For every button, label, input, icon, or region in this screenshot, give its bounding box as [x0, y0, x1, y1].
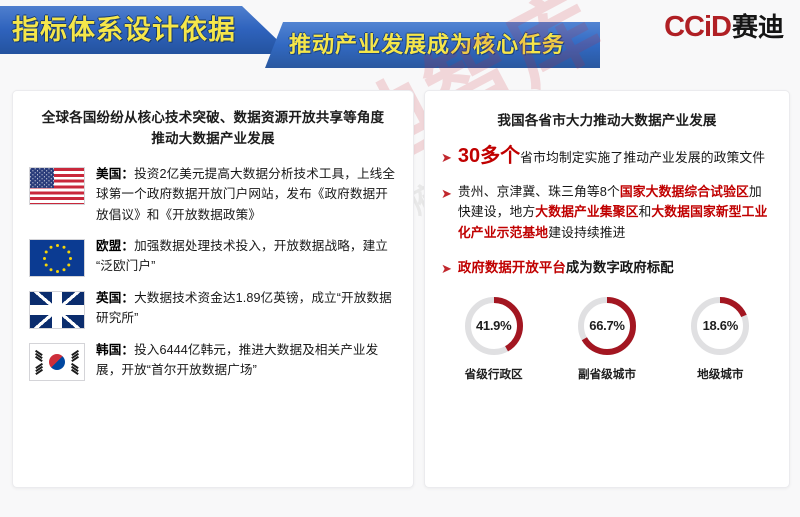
country-description: 英国：大数据技术资金达1.89亿英镑，成立“开放数据研究所” [96, 288, 399, 329]
donut-chart-1: 66.7% 副省级城市 [561, 293, 653, 382]
donut-ring-2: 18.6% [687, 293, 753, 359]
country-name: 欧盟： [96, 239, 134, 253]
bullet-seg-red-2: 大数据产业集聚区 [535, 204, 638, 219]
bullet-rest-text: 省市均制定实施了推动产业发展的政策文件 [520, 150, 765, 165]
donut-label-1: 副省级城市 [578, 366, 636, 382]
bullet-seg-black-3: 和 [638, 204, 651, 219]
country-list: 美国：投资2亿美元提高大数据分析技术工具，上线全球第一个政府数据开放门户网站，发… [13, 164, 413, 381]
list-item: 英国：大数据技术资金达1.89亿英镑，成立“开放数据研究所” [13, 288, 413, 329]
bullet-text: 30多个省市均制定实施了推动产业发展的政策文件 [458, 146, 765, 169]
right-panel-card: 我国各省市大力推动大数据产业发展 ➤ 30多个省市均制定实施了推动产业发展的政策… [424, 90, 790, 488]
united-states-flag [29, 167, 85, 205]
slide-header: 指标体系设计依据 推动产业发展成为核心任务 CCiD 赛迪 [0, 0, 800, 88]
donut-ring-1: 66.7% [574, 293, 640, 359]
donut-value-1: 66.7% [574, 293, 640, 359]
list-item: 美国：投资2亿美元提高大数据分析技术工具，上线全球第一个政府数据开放门户网站，发… [13, 164, 413, 225]
banner-secondary-label: 推动产业发展成为核心任务 [265, 34, 565, 56]
bullet-text: 贵州、京津冀、珠三角等8个国家大数据综合试验区加快建设，地方大数据产业集聚区和大… [458, 182, 773, 244]
list-item: ➤ 政府数据开放平台成为数字政府标配 [441, 257, 773, 279]
list-item: ➤ 贵州、京津冀、珠三角等8个国家大数据综合试验区加快建设，地方大数据产业集聚区… [441, 182, 773, 244]
logo-latin-text: CCiD [664, 13, 731, 42]
left-panel-card: 全球各国纷纷从核心技术突破、数据资源开放共享等角度推动大数据产业发展 美国：投资… [12, 90, 414, 488]
united-kingdom-flag [29, 291, 85, 329]
left-panel-title: 全球各国纷纷从核心技术突破、数据资源开放共享等角度推动大数据产业发展 [35, 108, 391, 150]
donut-chart-0: 41.9% 省级行政区 [448, 293, 540, 382]
arrow-bullet-icon: ➤ [441, 149, 452, 167]
bullet-seg-red-1: 国家大数据综合试验区 [620, 184, 749, 199]
arrow-bullet-icon: ➤ [441, 260, 452, 278]
donut-chart-group: 41.9% 省级行政区 66.7% 副省级城市 [437, 293, 777, 382]
country-description: 欧盟：加强数据处理技术投入，开放数据战略，建立“泛欧门户” [96, 236, 399, 277]
south-korea-flag [29, 343, 85, 381]
country-detail: 大数据技术资金达1.89亿英镑，成立“开放数据研究所” [96, 291, 392, 325]
country-name: 英国： [96, 291, 134, 305]
arrow-bullet-icon: ➤ [441, 185, 452, 203]
bullet-seg-black-1: 贵州、京津冀、珠三角等8个 [458, 184, 620, 199]
donut-label-0: 省级行政区 [465, 366, 523, 382]
banner-secondary: 推动产业发展成为核心任务 [265, 22, 600, 68]
donut-ring-0: 41.9% [461, 293, 527, 359]
european-union-flag [29, 239, 85, 277]
country-detail: 投资2亿美元提高大数据分析技术工具，上线全球第一个政府数据开放门户网站，发布《政… [96, 167, 395, 222]
bullet-list: ➤ 30多个省市均制定实施了推动产业发展的政策文件 ➤ 贵州、京津冀、珠三角等8… [441, 146, 773, 279]
right-panel-title: 我国各省市大力推动大数据产业发展 [447, 111, 767, 132]
country-name: 韩国： [96, 343, 134, 357]
country-name: 美国： [96, 167, 134, 181]
banner-primary-label: 指标体系设计依据 [0, 17, 236, 44]
country-detail: 加强数据处理技术投入，开放数据战略，建立“泛欧门户” [96, 239, 388, 273]
logo-chinese-text: 赛迪 [732, 14, 784, 40]
bullet-seg-red-1: 政府数据开放平台 [458, 260, 566, 275]
donut-label-2: 地级城市 [697, 366, 743, 382]
donut-value-0: 41.9% [461, 293, 527, 359]
donut-chart-2: 18.6% 地级城市 [674, 293, 766, 382]
bullet-highlight-value: 30多个 [458, 145, 520, 167]
ccid-logo: CCiD 赛迪 [664, 13, 784, 42]
list-item: ➤ 30多个省市均制定实施了推动产业发展的政策文件 [441, 146, 773, 169]
banner-primary: 指标体系设计依据 [0, 6, 292, 54]
bullet-text: 政府数据开放平台成为数字政府标配 [458, 257, 674, 279]
donut-value-2: 18.6% [687, 293, 753, 359]
list-item: 韩国：投入6444亿韩元，推进大数据及相关产业发展，开放“首尔开放数据广场” [13, 340, 413, 381]
country-detail: 投入6444亿韩元，推进大数据及相关产业发展，开放“首尔开放数据广场” [96, 343, 378, 377]
bullet-seg-black-1: 成为数字政府标配 [566, 260, 674, 275]
country-description: 韩国：投入6444亿韩元，推进大数据及相关产业发展，开放“首尔开放数据广场” [96, 340, 399, 381]
list-item: 欧盟：加强数据处理技术投入，开放数据战略，建立“泛欧门户” [13, 236, 413, 277]
bullet-seg-black-4: 建设持续推进 [548, 225, 625, 240]
country-description: 美国：投资2亿美元提高大数据分析技术工具，上线全球第一个政府数据开放门户网站，发… [96, 164, 399, 225]
slide-root: 指标体系设计依据 推动产业发展成为核心任务 CCiD 赛迪 赛迪智库 面向政府 … [0, 0, 800, 517]
